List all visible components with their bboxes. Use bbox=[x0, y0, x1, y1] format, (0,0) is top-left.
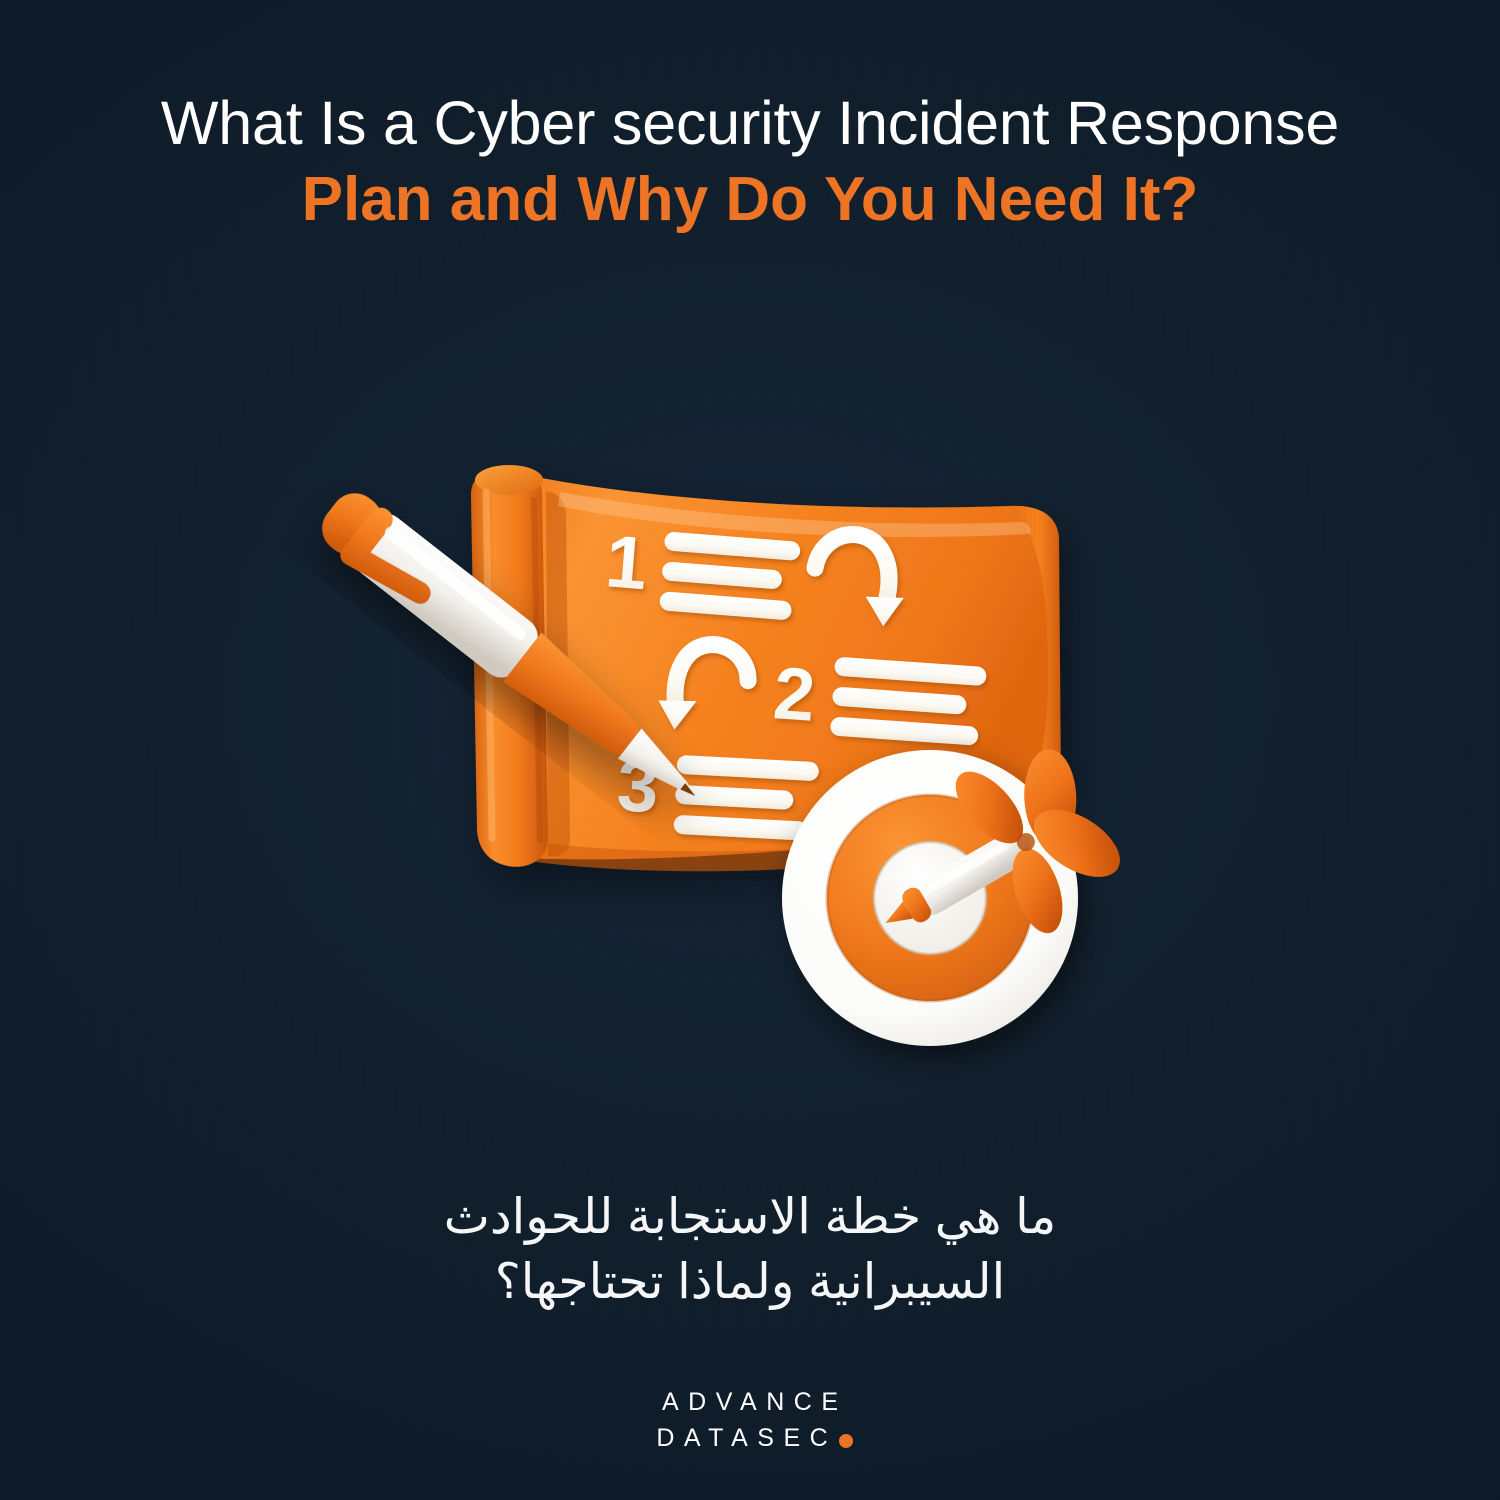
dart-target bbox=[782, 750, 1078, 1046]
logo-line-advance: ADVANCE bbox=[0, 1385, 1500, 1421]
list-item-1: 1 bbox=[603, 519, 909, 628]
dart-band bbox=[899, 884, 934, 925]
scroll-left-roll bbox=[471, 465, 548, 867]
logo-dot-icon bbox=[839, 1434, 853, 1448]
dart bbox=[838, 715, 1151, 1006]
logo-line-datasec: DATASEC bbox=[0, 1421, 1500, 1457]
pen-nib bbox=[680, 783, 698, 799]
pen-3d bbox=[310, 482, 718, 822]
target-inner-white bbox=[874, 842, 986, 954]
pen-barrel bbox=[341, 505, 546, 685]
curved-arrow-down-right bbox=[810, 531, 908, 627]
svg-text:1: 1 bbox=[603, 519, 651, 605]
dart-shaft bbox=[906, 824, 1038, 921]
brand-logo: ADVANCE DATASEC bbox=[0, 1385, 1500, 1456]
target-orange-ring bbox=[827, 795, 1033, 1001]
scroll-sheet bbox=[512, 472, 1060, 859]
dart-point bbox=[881, 901, 914, 931]
pen-cap-end bbox=[312, 484, 391, 565]
scroll-bottom-fold bbox=[520, 828, 1016, 871]
target-outer-white bbox=[782, 750, 1078, 1046]
dart-flights bbox=[939, 715, 1151, 948]
svg-text:2: 2 bbox=[771, 651, 818, 737]
headline-line-2: Plan and Why Do You Need It? bbox=[0, 168, 1500, 231]
arabic-line-1: ما هي خطة الاستجابة للحوادث bbox=[0, 1185, 1500, 1250]
curved-arrow-down-left bbox=[656, 641, 750, 735]
pen-clip bbox=[337, 503, 457, 618]
pen-tip-cone bbox=[618, 729, 701, 805]
pen-grip bbox=[503, 633, 653, 769]
headline-block: What Is a Cyber security Incident Respon… bbox=[0, 92, 1500, 231]
headline-line-1: What Is a Cyber security Incident Respon… bbox=[0, 92, 1500, 154]
svg-text:3: 3 bbox=[615, 743, 660, 828]
list-item-2: 2 bbox=[656, 641, 986, 746]
scroll-top-highlight bbox=[558, 492, 1031, 537]
scroll-right-curl bbox=[1010, 506, 1061, 830]
logo-datasec-text: DATASEC bbox=[656, 1424, 837, 1452]
scroll-list-items: 1 2 bbox=[603, 519, 987, 841]
arabic-subheadline: ما هي خطة الاستجابة للحوادث السيبرانية و… bbox=[0, 1185, 1500, 1314]
plan-scroll-group bbox=[471, 465, 1061, 871]
list-item-3: 3 bbox=[615, 743, 819, 841]
scroll-roll-shadow bbox=[546, 492, 570, 856]
arabic-line-2: السيبرانية ولماذا تحتاجها؟ bbox=[0, 1250, 1500, 1315]
poster-canvas: What Is a Cyber security Incident Respon… bbox=[0, 0, 1500, 1500]
